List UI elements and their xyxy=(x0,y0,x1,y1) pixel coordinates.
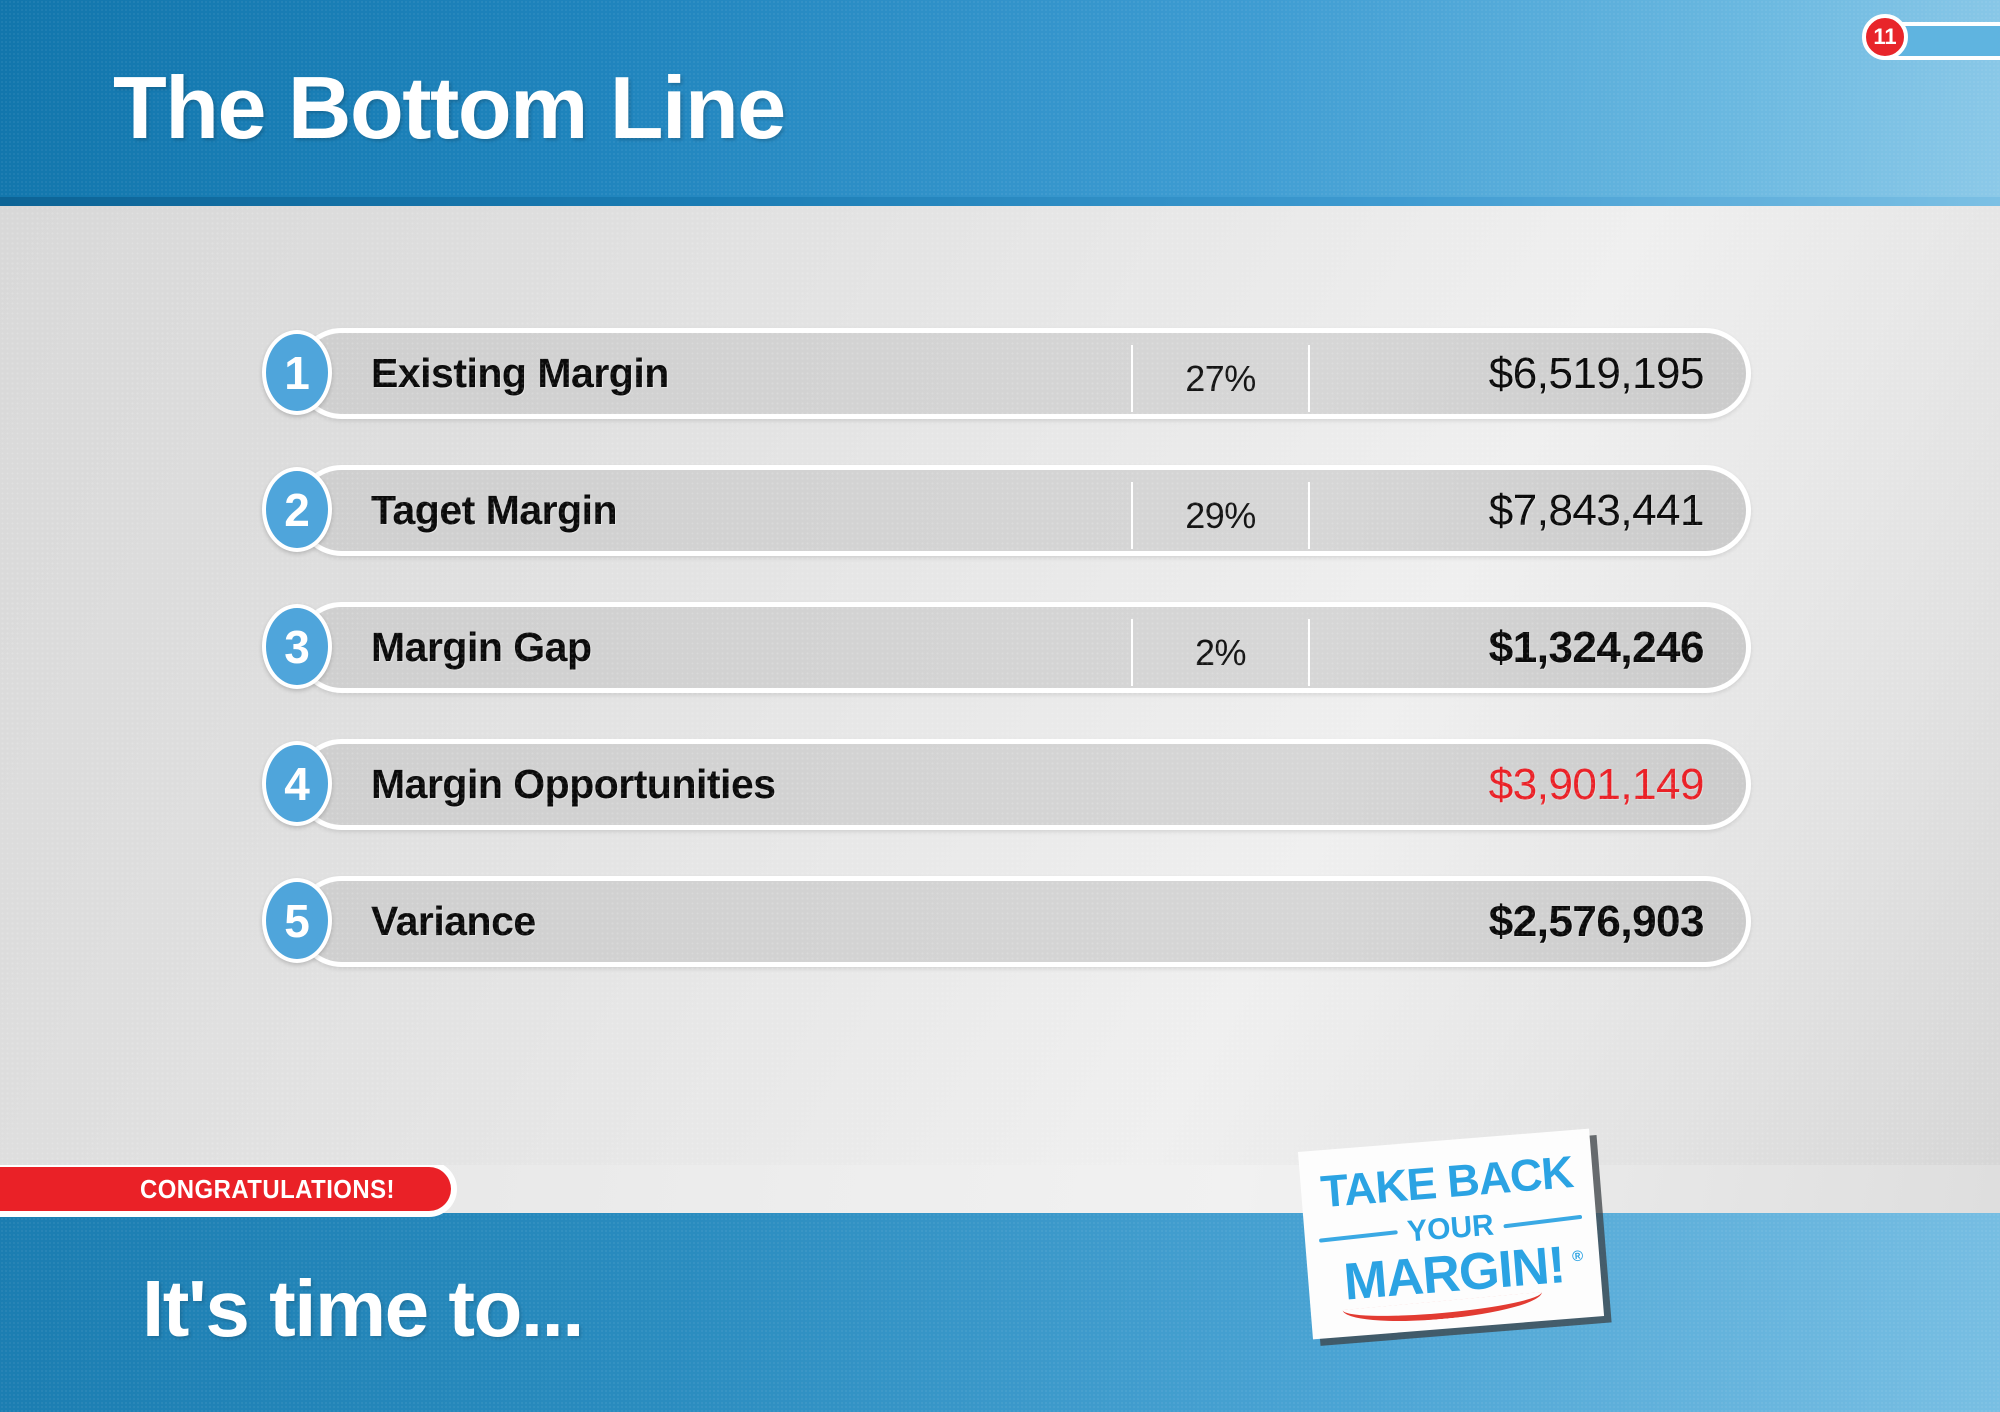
slide-header: The Bottom Line xyxy=(0,0,2000,197)
row-percent-cell: 2% xyxy=(1131,619,1310,686)
table-row[interactable]: 5 Variance $2,576,903 xyxy=(296,876,1751,967)
row-percent-cell: 29% xyxy=(1131,482,1310,549)
row-percent-cell: 27% xyxy=(1131,345,1310,412)
row-number-badge: 1 xyxy=(262,330,332,415)
row-number-badge: 2 xyxy=(262,467,332,552)
row-value: $2,576,903 xyxy=(1489,881,1704,962)
logo-dash-right-icon xyxy=(1504,1215,1583,1229)
slide-footer: CONGRATULATIONS! It's time to... xyxy=(0,1165,2000,1412)
row-label: Margin Gap xyxy=(371,607,592,688)
main-content: 1 Existing Margin 27% $6,519,195 2 Taget… xyxy=(0,206,2000,1165)
row-percent: 29% xyxy=(1185,495,1256,537)
row-label: Variance xyxy=(371,881,536,962)
table-row[interactable]: 1 Existing Margin 27% $6,519,195 xyxy=(296,328,1751,419)
row-value: $7,843,441 xyxy=(1489,470,1704,551)
row-label: Margin Opportunities xyxy=(371,744,776,825)
table-row[interactable]: 2 Taget Margin 29% $7,843,441 xyxy=(296,465,1751,556)
row-number-badge: 3 xyxy=(262,604,332,689)
row-percent: 27% xyxy=(1185,358,1256,400)
table-row[interactable]: 3 Margin Gap 2% $1,324,246 xyxy=(296,602,1751,693)
table-row[interactable]: 4 Margin Opportunities $3,901,149 xyxy=(296,739,1751,830)
margin-summary-list: 1 Existing Margin 27% $6,519,195 2 Taget… xyxy=(296,328,1751,967)
row-value: $1,324,246 xyxy=(1489,607,1704,688)
row-label: Existing Margin xyxy=(371,333,669,414)
footer-headline: It's time to... xyxy=(142,1263,583,1355)
row-value: $6,519,195 xyxy=(1489,333,1704,414)
row-value: $3,901,149 xyxy=(1489,744,1704,825)
row-number-badge: 5 xyxy=(262,878,332,963)
logo-dash-left-icon xyxy=(1319,1230,1398,1242)
row-number-badge: 4 xyxy=(262,741,332,826)
row-percent: 2% xyxy=(1195,632,1246,674)
congratulations-label: CONGRATULATIONS! xyxy=(140,1174,395,1205)
header-bottom-edge xyxy=(0,197,2000,206)
page-title: The Bottom Line xyxy=(113,57,785,159)
congratulations-banner: CONGRATULATIONS! xyxy=(0,1165,457,1217)
row-label: Taget Margin xyxy=(371,470,617,551)
registered-trademark-icon: ® xyxy=(1571,1247,1583,1265)
take-back-your-margin-logo: TAKE BACK YOUR MARGIN! ® xyxy=(1298,1129,1604,1340)
page-number-badge: 11 xyxy=(1862,14,1908,60)
